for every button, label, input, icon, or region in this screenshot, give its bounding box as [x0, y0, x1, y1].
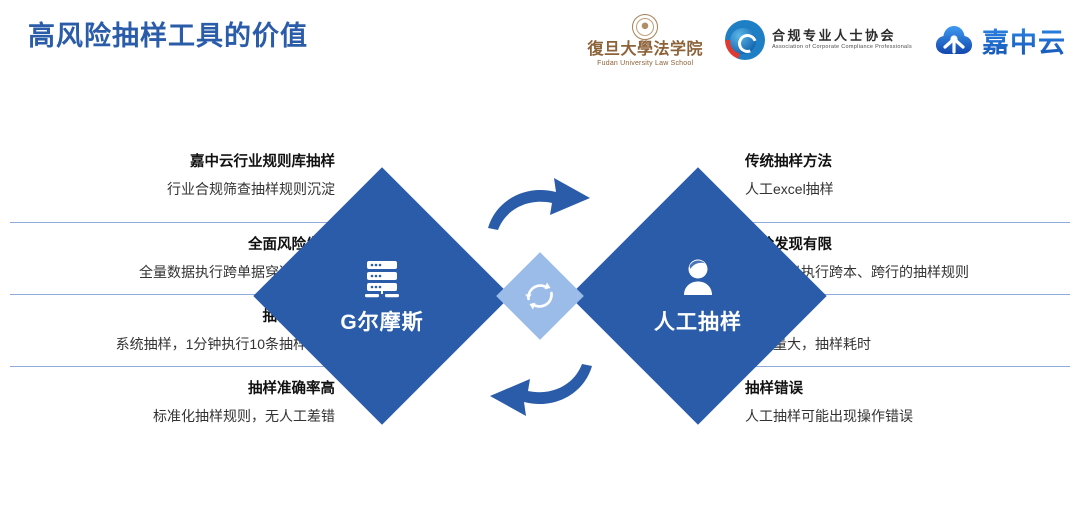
feature-item: 抽样错误 人工抽样可能出现操作错误 — [745, 366, 1070, 438]
feature-title: 传统抽样方法 — [745, 152, 1065, 172]
fudan-logo-cn-text: 復旦大學法学院 — [587, 42, 703, 58]
feature-title: 抽样错误 — [745, 379, 1070, 399]
feature-description: 人工excel抽样 — [745, 178, 1065, 200]
feature-title: 风险发现有限 — [745, 235, 1070, 255]
diamond-shape-right — [569, 167, 826, 424]
accp-logo-cn-text: 合规专业人士协会 — [772, 29, 912, 42]
fudan-law-school-logo: 復旦大學法学院 Fudan University Law School — [587, 14, 703, 67]
jiazhongyun-logo-text: 嘉中云 — [982, 21, 1066, 60]
feature-description: 人工抽样可能出现操作错误 — [745, 405, 1070, 427]
jiazhongyun-cloud-icon — [934, 24, 974, 56]
arrow-left-to-right-icon — [482, 174, 598, 236]
accp-globe-icon — [725, 20, 765, 60]
feature-description: 数据量大，抽样耗时 — [745, 333, 1070, 355]
accp-logo-en-text: Association of Corporate Compliance Prof… — [772, 45, 912, 51]
slide-root: 高风险抽样工具的价值 復旦大學法学院 Fudan University Law … — [0, 0, 1080, 524]
arrow-right-to-left-icon — [482, 358, 598, 420]
fudan-logo-en-text: Fudan University Law School — [597, 60, 693, 67]
accp-logo: 合规专业人士协会 Association of Corporate Compli… — [725, 20, 912, 60]
diamond-shape-left — [253, 167, 510, 424]
fudan-seal-icon — [632, 14, 658, 40]
feature-item: 传统抽样方法 人工excel抽样 — [745, 150, 1065, 222]
jiazhongyun-logo: 嘉中云 — [934, 21, 1066, 60]
page-title: 高风险抽样工具的价值 — [28, 14, 308, 53]
accp-logo-text: 合规专业人士协会 Association of Corporate Compli… — [772, 29, 912, 51]
logo-bar: 復旦大學法学院 Fudan University Law School 合规专业… — [587, 6, 1066, 74]
center-diagram: G尔摩斯 人工抽样 — [287, 168, 793, 424]
sync-arrows-icon — [520, 276, 560, 316]
